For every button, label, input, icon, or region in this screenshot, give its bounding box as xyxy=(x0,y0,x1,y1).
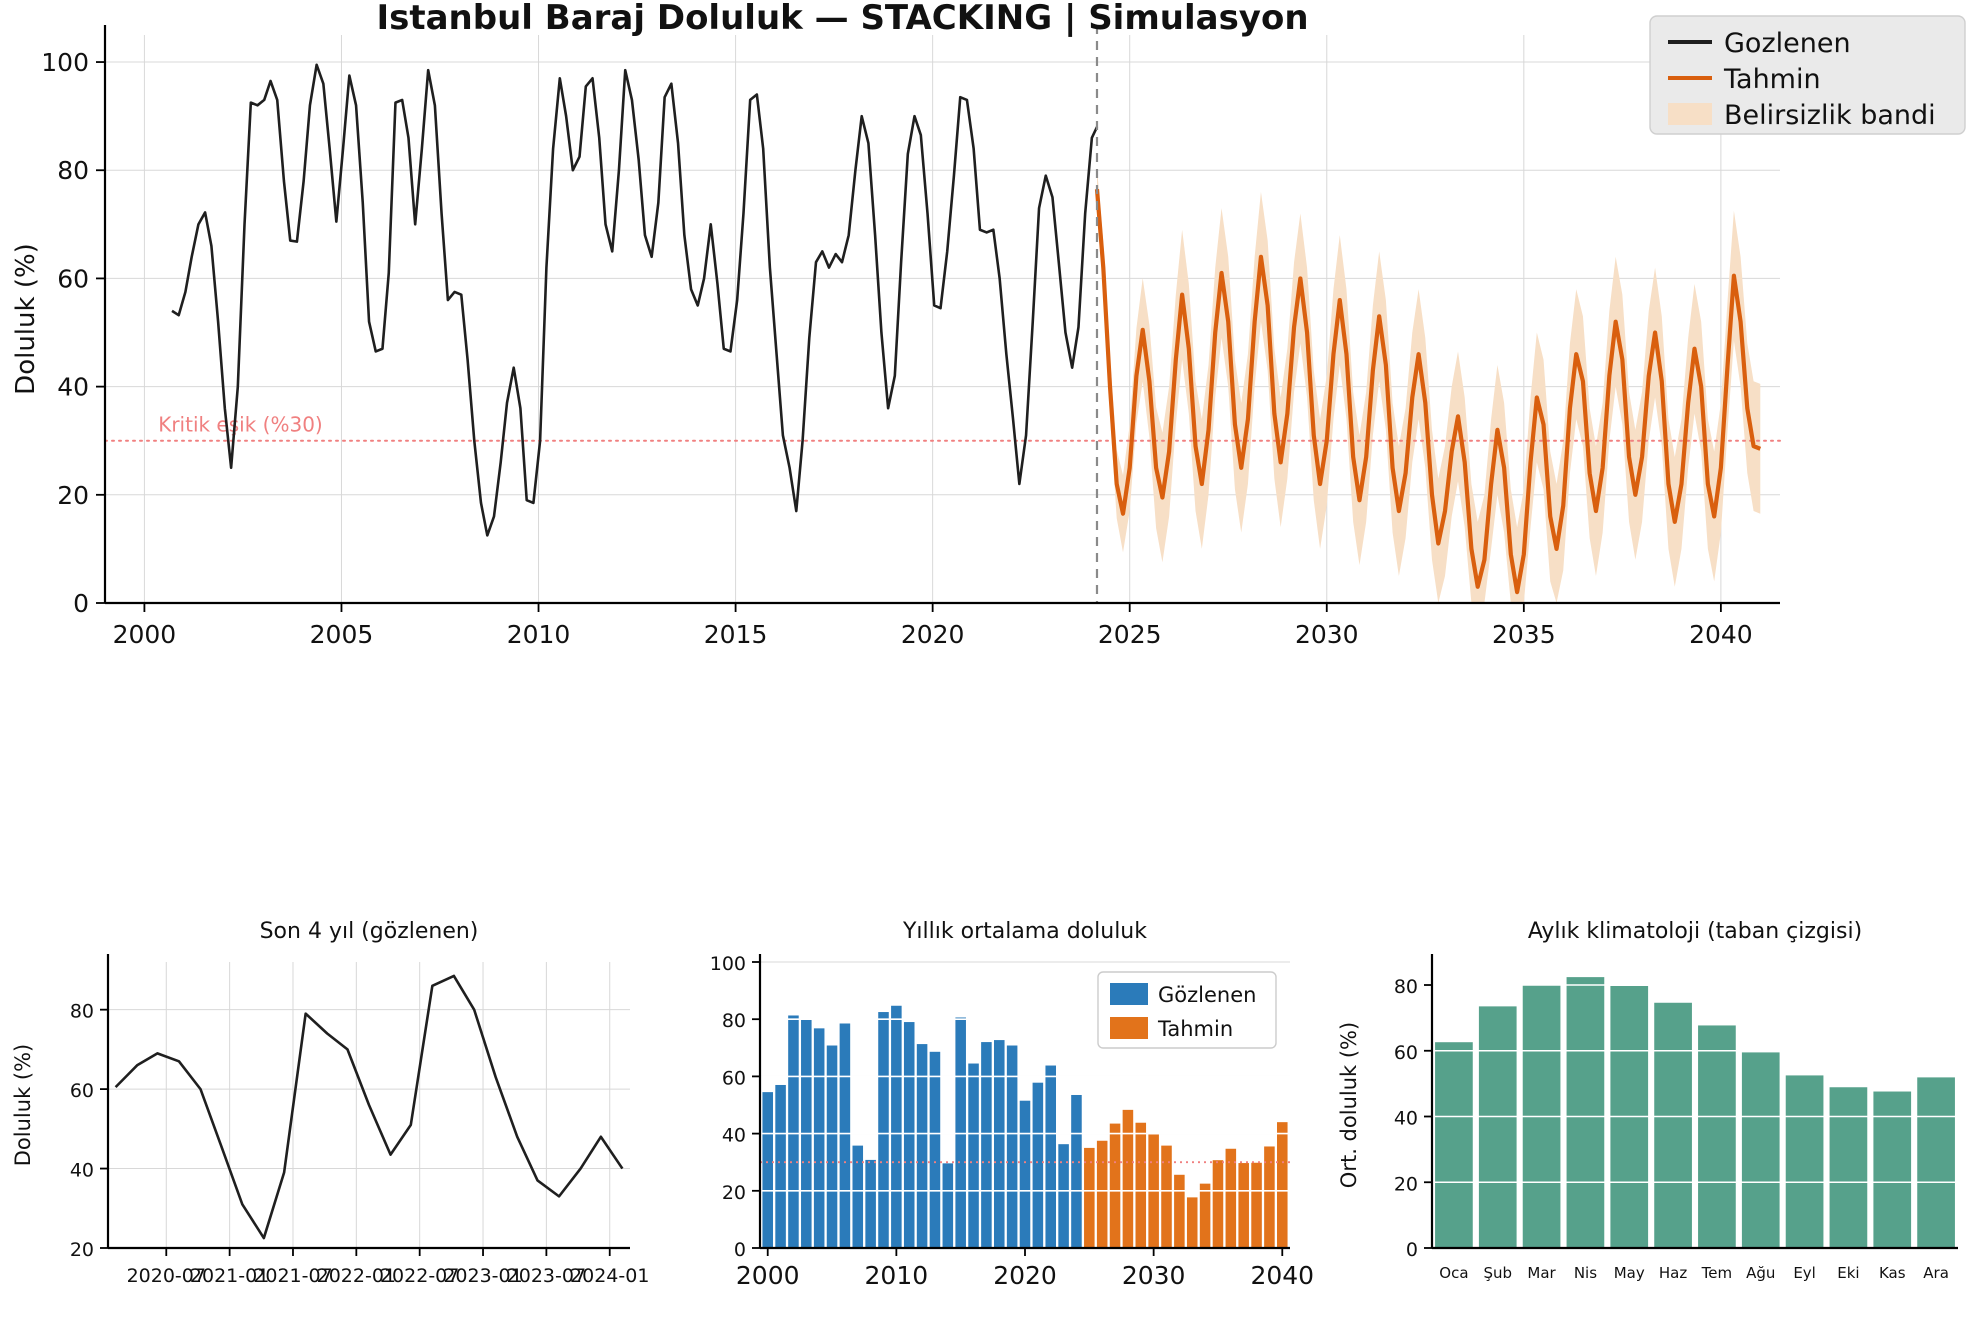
bar xyxy=(1097,1141,1108,1248)
bar xyxy=(955,1017,966,1248)
x-tick-label: 2025 xyxy=(1098,620,1162,649)
y-tick-label: 60 xyxy=(70,1080,94,1102)
y-tick-label: 100 xyxy=(41,48,89,77)
x-tick-label: Haz xyxy=(1659,1264,1687,1282)
main-forecast-chart: Kritik eşik (%30)02040608010020002005201… xyxy=(0,0,1981,800)
legend-label: Tahmin xyxy=(1723,64,1821,95)
x-tick-label: 2000 xyxy=(736,1261,800,1290)
critical-threshold-label: Kritik eşik (%30) xyxy=(158,413,323,437)
y-tick-label: 20 xyxy=(57,481,89,510)
x-tick-label: Ağu xyxy=(1746,1264,1775,1282)
bar xyxy=(1742,1052,1780,1248)
y-tick-label: 60 xyxy=(722,1067,746,1089)
x-tick-label: 2035 xyxy=(1492,620,1556,649)
bar xyxy=(917,1044,928,1248)
y-tick-label: 40 xyxy=(57,373,89,402)
x-tick-label: 2040 xyxy=(1250,1261,1314,1290)
y-axis-label: Ort. doluluk (%) xyxy=(1337,1022,1361,1188)
bar xyxy=(891,1006,902,1248)
bar xyxy=(1033,1083,1044,1248)
chart-title: Istanbul Baraj Doluluk — STACKING | Simu… xyxy=(376,0,1308,38)
x-tick-label: 2000 xyxy=(113,620,177,649)
y-tick-label: 40 xyxy=(722,1125,746,1147)
x-tick-label: Eki xyxy=(1837,1264,1859,1282)
bar xyxy=(1698,1025,1736,1248)
bar xyxy=(1058,1144,1069,1248)
x-tick-label: Şub xyxy=(1483,1264,1512,1282)
last-4-years-chart: Son 4 yıl (gözlenen)204060802020-072021-… xyxy=(0,900,660,1338)
legend-label: Tahmin xyxy=(1157,1017,1233,1041)
bar xyxy=(1020,1101,1031,1248)
x-tick-label: Nis xyxy=(1574,1264,1597,1282)
x-tick-label: 2030 xyxy=(1122,1261,1186,1290)
bar xyxy=(1435,1042,1473,1248)
y-tick-label: 80 xyxy=(1394,976,1418,998)
bar xyxy=(1174,1175,1185,1248)
bar xyxy=(840,1023,851,1248)
bar xyxy=(1226,1149,1237,1248)
y-tick-label: 60 xyxy=(1394,1042,1418,1064)
monthly-climatology-chart: Aylık klimatoloji (taban çizgisi)0204060… xyxy=(1320,900,1981,1338)
x-tick-label: May xyxy=(1614,1264,1645,1282)
x-tick-label: 2030 xyxy=(1295,620,1359,649)
bar xyxy=(1238,1163,1249,1248)
bar xyxy=(1479,1006,1517,1248)
bar xyxy=(981,1042,992,1248)
bar xyxy=(1654,1003,1692,1248)
y-tick-label: 20 xyxy=(1394,1173,1418,1195)
x-tick-label: 2024-01 xyxy=(570,1265,649,1287)
bar xyxy=(1567,977,1605,1248)
legend-label: Gozlenen xyxy=(1724,28,1851,59)
y-tick-label: 80 xyxy=(70,1001,94,1023)
observed-line xyxy=(172,65,1097,536)
x-tick-label: Tem xyxy=(1701,1264,1732,1282)
bar xyxy=(1123,1110,1134,1248)
y-tick-label: 20 xyxy=(722,1182,746,1204)
annual-mean-chart: Yıllık ortalama doluluk02040608010020002… xyxy=(660,900,1320,1338)
bar xyxy=(814,1028,825,1248)
bar xyxy=(1873,1092,1911,1248)
bar xyxy=(865,1160,876,1248)
figure-canvas: Kritik eşik (%30)02040608010020002005201… xyxy=(0,0,1981,1338)
x-tick-label: Mar xyxy=(1527,1264,1556,1282)
y-tick-label: 40 xyxy=(70,1160,94,1182)
y-tick-label: 80 xyxy=(722,1010,746,1032)
legend-swatch-patch xyxy=(1668,103,1712,125)
bar xyxy=(943,1163,954,1248)
bar xyxy=(1161,1146,1172,1248)
x-tick-label: 2010 xyxy=(865,1261,929,1290)
bar xyxy=(788,1015,799,1248)
y-axis-label: Doluluk (%) xyxy=(11,1044,35,1166)
bar xyxy=(1200,1184,1211,1248)
bar xyxy=(1136,1123,1147,1248)
legend-label: Gözlenen xyxy=(1158,983,1256,1007)
bar xyxy=(904,1022,915,1248)
x-tick-label: Ara xyxy=(1923,1264,1949,1282)
y-tick-label: 40 xyxy=(1394,1108,1418,1130)
bar xyxy=(1071,1095,1082,1248)
bar xyxy=(930,1052,941,1248)
x-tick-label: 2010 xyxy=(507,620,571,649)
bar xyxy=(775,1085,786,1248)
x-tick-label: 2040 xyxy=(1689,620,1753,649)
x-tick-label: 2015 xyxy=(704,620,768,649)
subplot-title: Son 4 yıl (gözlenen) xyxy=(260,919,479,944)
y-tick-label: 0 xyxy=(73,589,89,618)
bar xyxy=(968,1064,979,1248)
x-tick-label: Oca xyxy=(1439,1264,1468,1282)
bar xyxy=(1213,1160,1224,1248)
subplot-title: Yıllık ortalama doluluk xyxy=(902,919,1147,944)
x-tick-label: Eyl xyxy=(1793,1264,1816,1282)
legend-swatch xyxy=(1110,1017,1148,1039)
bar xyxy=(1917,1077,1955,1248)
bar xyxy=(1251,1163,1262,1248)
x-tick-label: 2020 xyxy=(993,1261,1057,1290)
bar xyxy=(1786,1075,1824,1248)
bar xyxy=(1045,1066,1056,1248)
y-tick-label: 80 xyxy=(57,156,89,185)
y-tick-label: 60 xyxy=(57,264,89,293)
y-tick-label: 20 xyxy=(70,1239,94,1261)
y-axis-label: Doluluk (%) xyxy=(11,243,41,395)
legend-swatch xyxy=(1110,983,1148,1005)
bar xyxy=(1277,1122,1288,1248)
subplot-title: Aylık klimatoloji (taban çizgisi) xyxy=(1528,919,1862,944)
bar xyxy=(878,1012,889,1248)
bar xyxy=(1110,1124,1121,1248)
x-tick-label: 2020 xyxy=(901,620,965,649)
bar xyxy=(1187,1197,1198,1248)
bar xyxy=(762,1092,773,1248)
legend-label: Belirsizlik bandi xyxy=(1724,100,1936,131)
y-tick-label: 100 xyxy=(710,953,746,975)
y-tick-label: 0 xyxy=(1406,1239,1418,1261)
x-tick-label: Kas xyxy=(1879,1264,1906,1282)
y-tick-label: 0 xyxy=(734,1239,746,1261)
x-tick-label: 2005 xyxy=(310,620,374,649)
bar xyxy=(852,1146,863,1248)
bar xyxy=(994,1040,1005,1248)
bar xyxy=(1830,1087,1868,1248)
